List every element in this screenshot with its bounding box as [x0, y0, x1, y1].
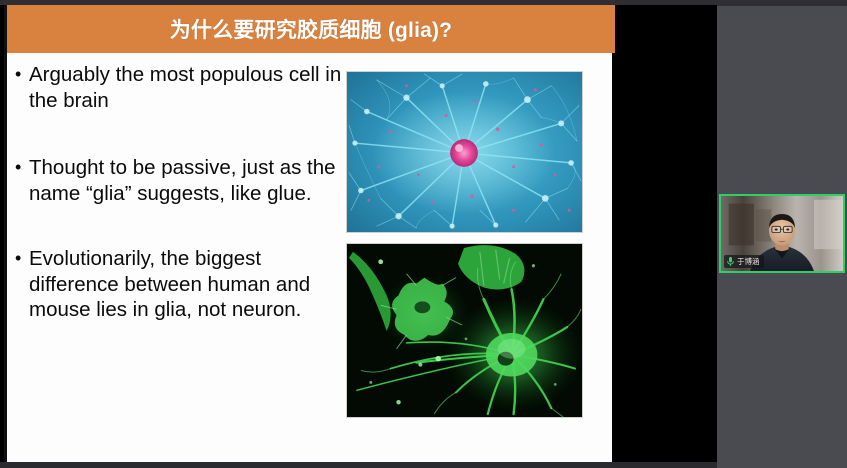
bullet-item: • Evolutionarily, the biggest difference…	[15, 246, 345, 323]
bullet-item: • Thought to be passive, just as the nam…	[15, 155, 345, 206]
bullet-text: Arguably the most populous cell in the b…	[29, 62, 345, 113]
microphone-icon	[726, 256, 735, 267]
bullet-marker-icon: •	[15, 246, 29, 323]
slide-title: 为什么要研究胶质细胞 (glia)?	[170, 14, 452, 44]
slide-body: • Arguably the most populous cell in the…	[7, 53, 615, 462]
presentation-slide: 为什么要研究胶质细胞 (glia)? • Arguably the most p…	[4, 5, 612, 462]
bullet-marker-icon: •	[15, 62, 29, 113]
glia-fluorescence-micrograph	[346, 243, 583, 418]
bullet-text: Thought to be passive, just as the name …	[29, 155, 345, 206]
bullet-marker-icon: •	[15, 155, 29, 206]
shared-screen-region[interactable]: 为什么要研究胶质细胞 (glia)? • Arguably the most p…	[0, 5, 717, 462]
participant-name-badge: 于博涵	[724, 255, 764, 268]
slide-title-bar: 为什么要研究胶质细胞 (glia)?	[7, 5, 615, 53]
sidebar-top-strip	[717, 0, 847, 6]
participant-name: 于博涵	[737, 257, 760, 266]
bottom-chrome-strip	[0, 462, 717, 468]
participant-video-tile[interactable]: 于博涵	[719, 194, 845, 273]
neuron-network-illustration	[346, 71, 583, 233]
slide-bullet-list: • Arguably the most populous cell in the…	[15, 62, 345, 323]
bullet-text: Evolutionarily, the biggest difference b…	[29, 246, 345, 323]
bullet-item: • Arguably the most populous cell in the…	[15, 62, 345, 113]
screen-share-view: 为什么要研究胶质细胞 (glia)? • Arguably the most p…	[0, 0, 847, 468]
